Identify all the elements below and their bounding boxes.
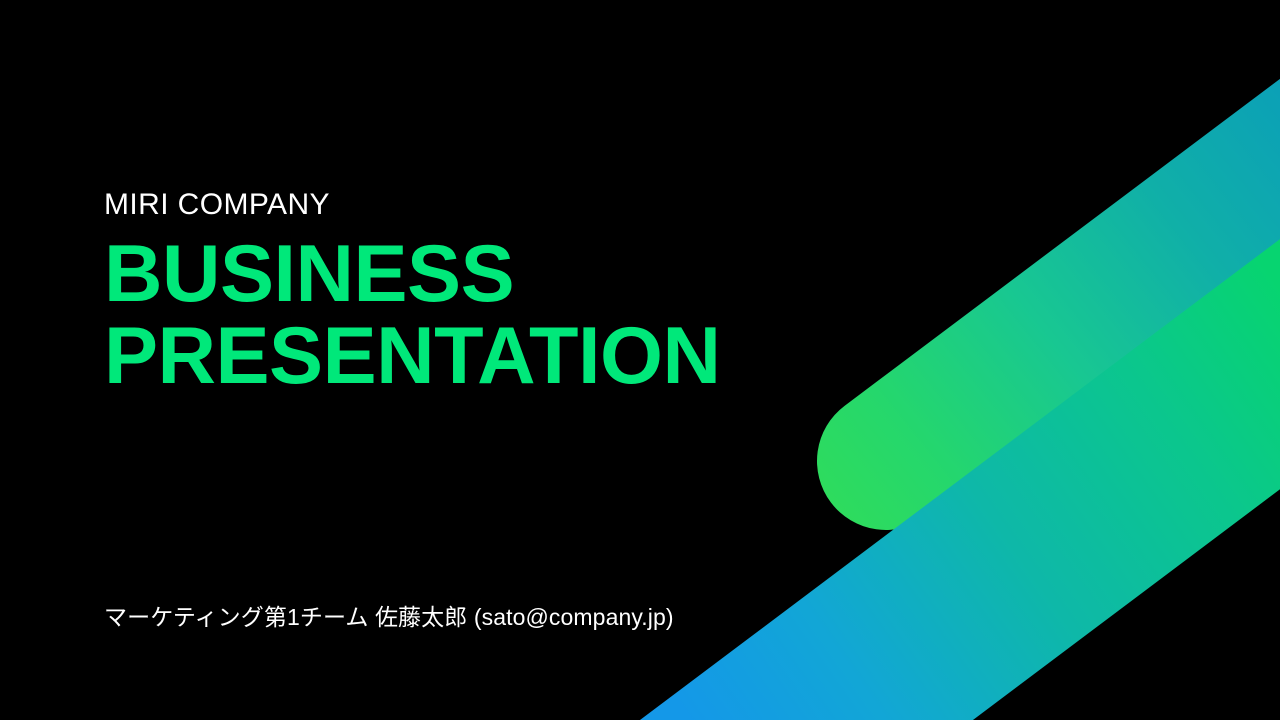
page-title: BUSINESS PRESENTATION (104, 233, 804, 397)
upper-bar-shape (886, 60, 1280, 461)
slide-text-block: MIRI COMPANY BUSINESS PRESENTATION (104, 186, 804, 397)
presenter-credit: マーケティング第1チーム 佐藤太郎 (sato@company.jp) (104, 601, 674, 633)
bar-upper-group (886, 60, 1280, 461)
title-line-2: PRESENTATION (104, 315, 804, 397)
company-eyebrow-label: MIRI COMPANY (104, 186, 804, 224)
title-line-1: BUSINESS (104, 233, 804, 315)
title-slide: MIRI COMPANY BUSINESS PRESENTATION マーケティ… (0, 0, 1280, 720)
